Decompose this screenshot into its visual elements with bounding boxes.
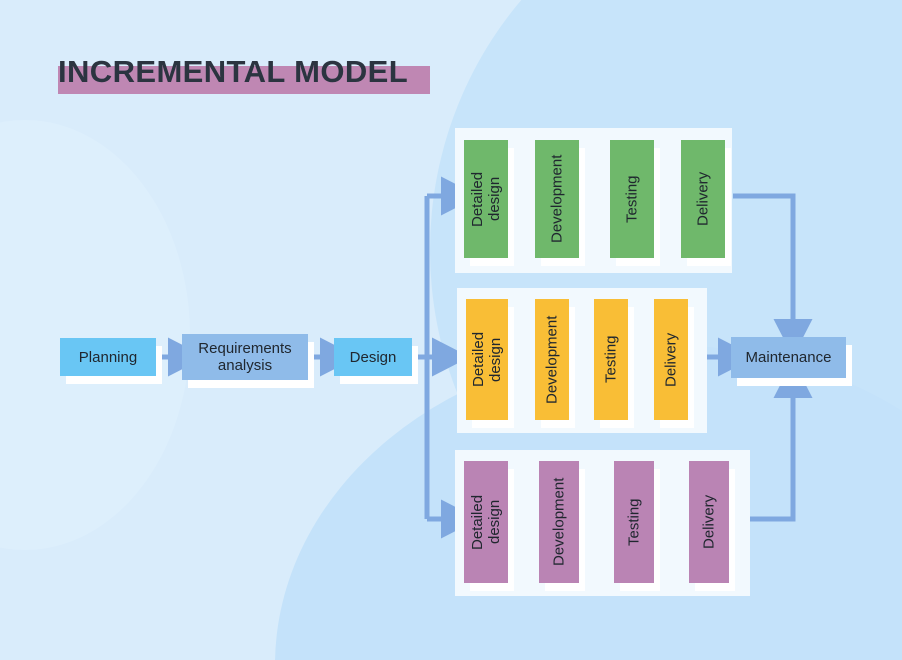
node-label-line2: design: [486, 177, 503, 221]
increment-2-step-detailed-design[interactable]: Detailed design: [466, 299, 508, 420]
increment-1-step-delivery[interactable]: Delivery: [681, 140, 725, 258]
node-label: Detailed design: [469, 171, 503, 226]
node-label: Detailed design: [469, 494, 503, 549]
node-face: Development: [535, 140, 579, 258]
node-label-line1: Requirements: [198, 340, 291, 357]
node-label: Maintenance: [746, 349, 832, 366]
increment-2-step-testing[interactable]: Testing: [594, 299, 628, 420]
node-label: Delivery: [695, 172, 712, 226]
node-label-line2: design: [486, 500, 503, 544]
node-label: Development: [551, 478, 568, 566]
node-label: Testing: [626, 498, 643, 546]
node-requirements-analysis[interactable]: Requirements analysis: [182, 334, 308, 380]
connector-layer: [0, 0, 902, 660]
increment-3-step-development[interactable]: Development: [539, 461, 579, 583]
increment-3-step-delivery[interactable]: Delivery: [689, 461, 729, 583]
node-label: Testing: [624, 175, 641, 223]
node-label-line2: design: [487, 337, 504, 381]
node-maintenance[interactable]: Maintenance: [731, 337, 846, 378]
increment-1-step-development[interactable]: Development: [535, 140, 579, 258]
node-label: Delivery: [663, 332, 680, 386]
node-label: Design: [350, 349, 397, 366]
node-face: Design: [334, 338, 412, 376]
node-face: Testing: [614, 461, 654, 583]
increment-3-step-detailed-design[interactable]: Detailed design: [464, 461, 508, 583]
node-face: Development: [539, 461, 579, 583]
node-label: Planning: [79, 349, 137, 366]
node-label-line1: Detailed: [470, 332, 487, 387]
node-label: Detailed design: [470, 332, 504, 387]
node-face: Planning: [60, 338, 156, 376]
node-label: Development: [544, 315, 561, 403]
node-planning[interactable]: Planning: [60, 338, 156, 376]
node-face: Testing: [610, 140, 654, 258]
node-face: Delivery: [689, 461, 729, 583]
increment-1-step-detailed-design[interactable]: Detailed design: [464, 140, 508, 258]
node-face: Delivery: [681, 140, 725, 258]
node-label: Testing: [603, 336, 620, 384]
node-face: Development: [535, 299, 569, 420]
diagram-canvas: INCREMENTAL MODEL: [0, 0, 902, 660]
node-face: Delivery: [654, 299, 688, 420]
node-face: Maintenance: [731, 337, 846, 378]
increment-2-step-development[interactable]: Development: [535, 299, 569, 420]
node-face: Requirements analysis: [182, 334, 308, 380]
node-face: Testing: [594, 299, 628, 420]
node-label-line1: Detailed: [469, 171, 486, 226]
node-face: Detailed design: [466, 299, 508, 420]
node-label: Requirements analysis: [198, 340, 291, 374]
increment-2-step-delivery[interactable]: Delivery: [654, 299, 688, 420]
node-face: Detailed design: [464, 140, 508, 258]
node-label: Delivery: [701, 495, 718, 549]
increment-1-step-testing[interactable]: Testing: [610, 140, 654, 258]
node-design[interactable]: Design: [334, 338, 412, 376]
node-label-line1: Detailed: [469, 494, 486, 549]
node-label-line2: analysis: [218, 357, 272, 374]
node-label: Development: [549, 155, 566, 243]
increment-3-step-testing[interactable]: Testing: [614, 461, 654, 583]
node-face: Detailed design: [464, 461, 508, 583]
